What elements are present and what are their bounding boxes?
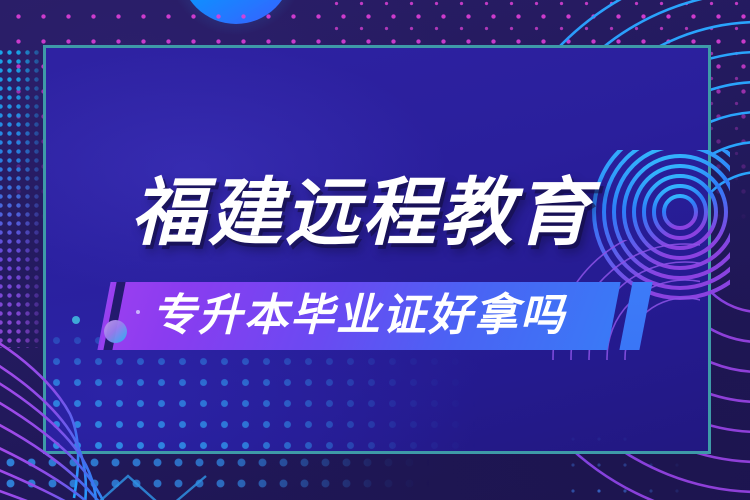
subtitle-right-accent-bar	[619, 282, 652, 350]
page-title: 福建远程教育	[131, 163, 671, 263]
subtitle-text: 专升本毕业证好拿吗	[152, 282, 566, 350]
small-cyan-dot-icon	[72, 316, 80, 324]
subtitle-banner: 专升本毕业证好拿吗	[96, 282, 656, 350]
subtitle-tiny-dot-icon	[136, 310, 140, 314]
poster-banner: 福建远程教育 专升本毕业证好拿吗	[0, 0, 750, 500]
subtitle-gradient-dot-icon	[104, 320, 127, 343]
chevron-outline-icon	[88, 470, 208, 500]
